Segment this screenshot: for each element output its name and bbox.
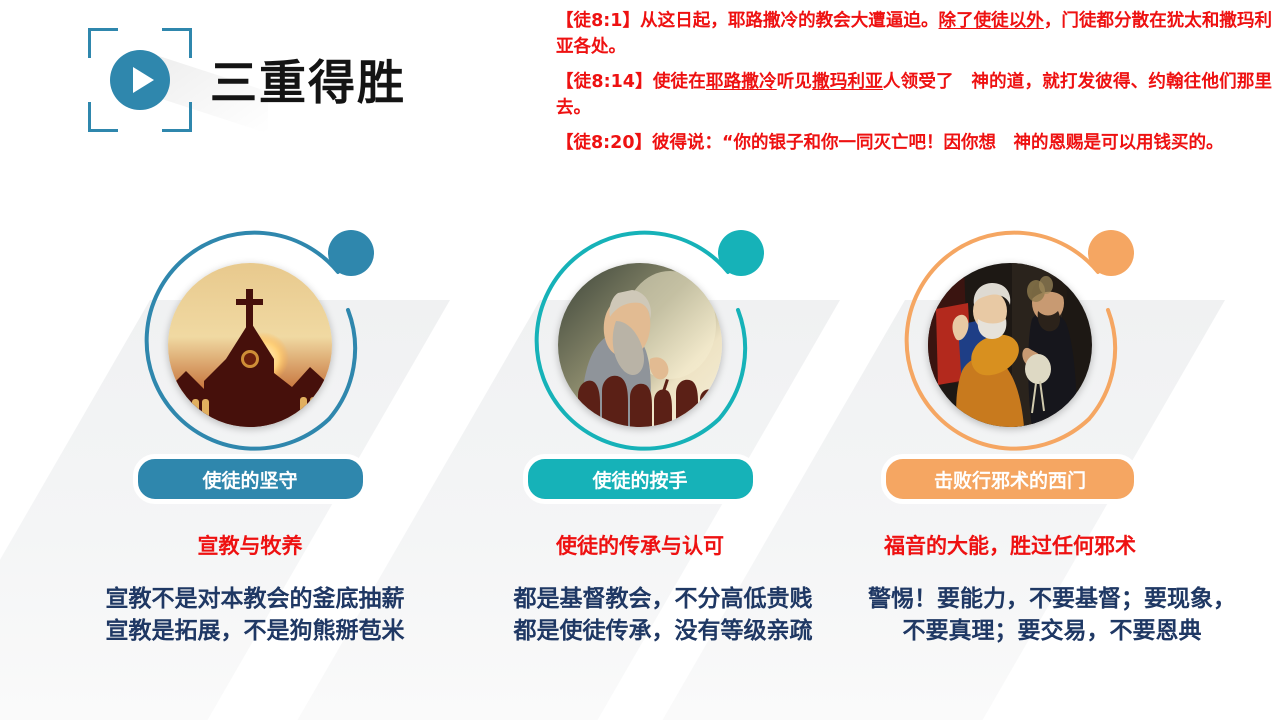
pill-label-text-3: 击败行邪术的西门	[934, 466, 1086, 493]
bottom-summary-row: 宣教不是对本教会的釜底抽薪 宣教是拓展，不是狗熊掰苞米 都是基督教会，不分高低贵…	[0, 583, 1280, 647]
slide-canvas: 三重得胜 【徒8:1】从这日起，耶路撒冷的教会大遭逼迫。除了使徒以外，门徒都分散…	[0, 0, 1280, 720]
bottom-column-1: 宣教不是对本教会的釜底抽薪 宣教是拓展，不是狗熊掰苞米	[40, 583, 470, 647]
bottom-column-2: 都是基督教会，不分高低贵贱 都是使徒传承，没有等级亲疏	[478, 583, 848, 647]
play-triangle-icon	[133, 67, 154, 93]
verse-acts-8-14: 【徒8:14】使徒在耶路撒冷听见撒玛利亚人领受了 神的道，就打发彼得、约翰往他们…	[556, 69, 1272, 121]
bottom-line: 宣教不是对本教会的釜底抽薪	[40, 583, 470, 615]
accent-dot-3	[1088, 230, 1134, 276]
verse-ref: 【徒8:14】	[556, 72, 653, 92]
bottom-column-3: 警惕！要能力，不要基督；要现象， 不要真理；要交易，不要恩典	[852, 583, 1252, 647]
verse-ref: 【徒8:1】	[556, 11, 640, 31]
verse-acts-8-20: 【徒8:20】彼得说：“你的银子和你一同灭亡吧！因你想 神的恩赐是可以用钱买的。	[556, 130, 1272, 156]
bottom-line: 宣教是拓展，不是狗熊掰苞米	[40, 615, 470, 647]
verse-underline: 耶路撒冷	[706, 72, 777, 92]
verse-ref: 【徒8:20】	[556, 133, 652, 153]
verse-text-before: 彼得说：“你的银子和你一同灭亡吧！因你想 神的恩赐是可以用钱买的。	[652, 133, 1224, 153]
bottom-line: 不要真理；要交易，不要恩典	[852, 615, 1252, 647]
ring-area-3	[880, 214, 1140, 476]
bottom-line: 警惕！要能力，不要基督；要现象，	[852, 583, 1252, 615]
red-caption-3: 福音的大能，胜过任何邪术	[845, 530, 1175, 560]
feature-column-2: 使徒的按手 使徒的传承与认可	[475, 214, 805, 560]
apostle-painting-photo	[558, 263, 722, 427]
play-button-icon	[110, 50, 170, 110]
bottom-line: 都是使徒传承，没有等级亲疏	[478, 615, 848, 647]
logo-frame	[88, 28, 192, 132]
page-title: 三重得胜	[210, 44, 406, 113]
verse-text-mid: 听见	[777, 72, 812, 92]
peter-and-simon-magus-photo	[928, 263, 1092, 427]
verse-underline-2: 撒玛利亚	[812, 72, 883, 92]
scripture-block: 【徒8:1】从这日起，耶路撒冷的教会大遭逼迫。除了使徒以外，门徒都分散在犹太和撒…	[556, 8, 1272, 165]
verse-acts-8-1: 【徒8:1】从这日起，耶路撒冷的教会大遭逼迫。除了使徒以外，门徒都分散在犹太和撒…	[556, 8, 1272, 60]
pill-label-1[interactable]: 使徒的坚守	[133, 454, 368, 504]
pill-label-text-1: 使徒的坚守	[202, 466, 297, 493]
ring-area-1	[120, 214, 380, 476]
pill-label-text-2: 使徒的按手	[592, 466, 687, 493]
pill-label-3[interactable]: 击败行邪术的西门	[881, 454, 1139, 504]
feature-column-1: 使徒的坚守 宣教与牧养	[85, 214, 415, 560]
ring-area-2	[510, 214, 770, 476]
feature-column-3: 击败行邪术的西门 福音的大能，胜过任何邪术	[845, 214, 1175, 560]
church-sunset-photo	[168, 263, 332, 427]
verse-text-before: 从这日起，耶路撒冷的教会大遭逼迫。	[640, 11, 938, 31]
verse-text-before: 使徒在	[653, 72, 706, 92]
bottom-line: 都是基督教会，不分高低贵贱	[478, 583, 848, 615]
red-caption-2: 使徒的传承与认可	[475, 530, 805, 560]
accent-dot-2	[718, 230, 764, 276]
pill-label-2[interactable]: 使徒的按手	[523, 454, 758, 504]
accent-dot-1	[328, 230, 374, 276]
red-caption-1: 宣教与牧养	[85, 530, 415, 560]
verse-underline: 除了使徒以外	[939, 11, 1044, 31]
